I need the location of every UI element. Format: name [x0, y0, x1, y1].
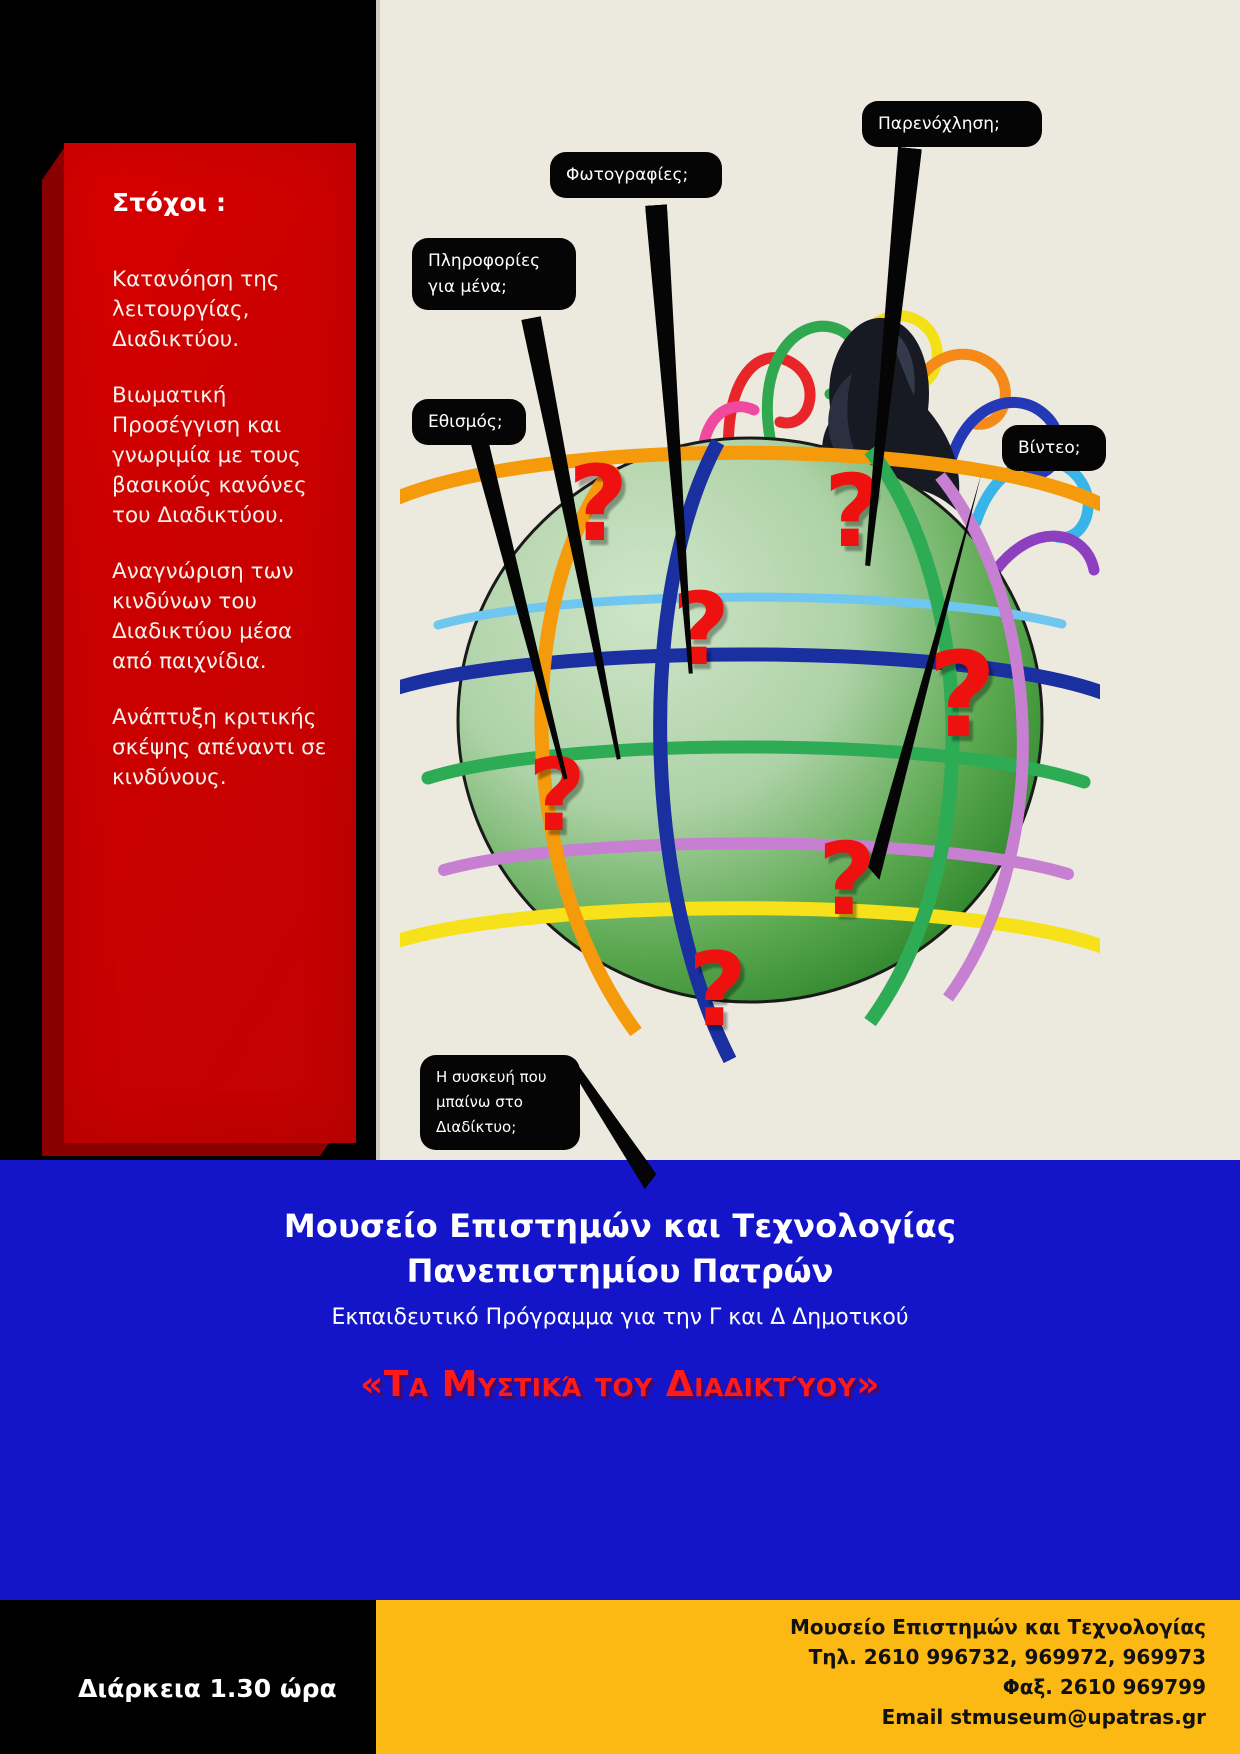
question-mark: ? — [528, 746, 586, 846]
stage-divider — [376, 0, 380, 1160]
museum-name-line2: Πανεπιστημίου Πατρών — [0, 1252, 1240, 1290]
objectives-card: Στόχοι : Κατανόηση της λειτουργίας, Διαδ… — [64, 143, 356, 1143]
objective-item: Ανάπτυξη κριτικής σκέψης απέναντι σε κιν… — [112, 703, 327, 793]
contact-email: Email stmuseum@upatras.gr — [790, 1702, 1206, 1732]
objective-item: Αναγνώριση των κινδύνων του Διαδικτύου μ… — [112, 557, 327, 677]
callout-harassment[interactable]: Παρενόχληση; — [862, 101, 1042, 147]
question-mark: ? — [818, 830, 876, 930]
contact-block: Μουσείο Επιστημών και Τεχνολογίας Τηλ. 2… — [790, 1612, 1206, 1732]
blue-footer-band: Μουσείο Επιστημών και Τεχνολογίας Πανεπι… — [0, 1160, 1240, 1600]
program-title: «Τα Μυστικά του Διαδικτύου» — [0, 1364, 1240, 1405]
contact-name: Μουσείο Επιστημών και Τεχνολογίας — [790, 1612, 1206, 1642]
duration-label: Διάρκεια 1.30 ώρα — [78, 1674, 337, 1703]
contact-fax: Φαξ. 2610 969799 — [790, 1672, 1206, 1702]
objectives-title: Στόχοι : — [112, 188, 327, 217]
objective-item: Βιωματική Προσέγγιση και γνωριμία με του… — [112, 381, 327, 531]
callout-addiction[interactable]: Εθισμός; — [412, 399, 526, 445]
question-mark: ? — [672, 580, 730, 680]
callout-device[interactable]: Η συσκευή που μπαίνω στο Διαδίκτυο; — [420, 1055, 580, 1150]
objective-item: Κατανόηση της λειτουργίας, Διαδικτύου. — [112, 265, 327, 355]
program-subtitle: Εκπαιδευτικό Πρόγραμμα για την Γ και Δ Δ… — [0, 1305, 1240, 1330]
poster: Στόχοι : Κατανόηση της λειτουργίας, Διαδ… — [0, 0, 1240, 1754]
callout-my-info[interactable]: Πληροφορίες για μένα; — [412, 238, 576, 310]
callout-video[interactable]: Βίντεο; — [1002, 425, 1106, 471]
museum-name-line1: Μουσείο Επιστημών και Τεχνολογίας — [0, 1207, 1240, 1245]
question-mark: ? — [928, 636, 996, 754]
callout-photos[interactable]: Φωτογραφίες; — [550, 152, 722, 198]
question-mark: ? — [688, 940, 747, 1042]
contact-phone: Τηλ. 2610 996732, 969972, 969973 — [790, 1642, 1206, 1672]
